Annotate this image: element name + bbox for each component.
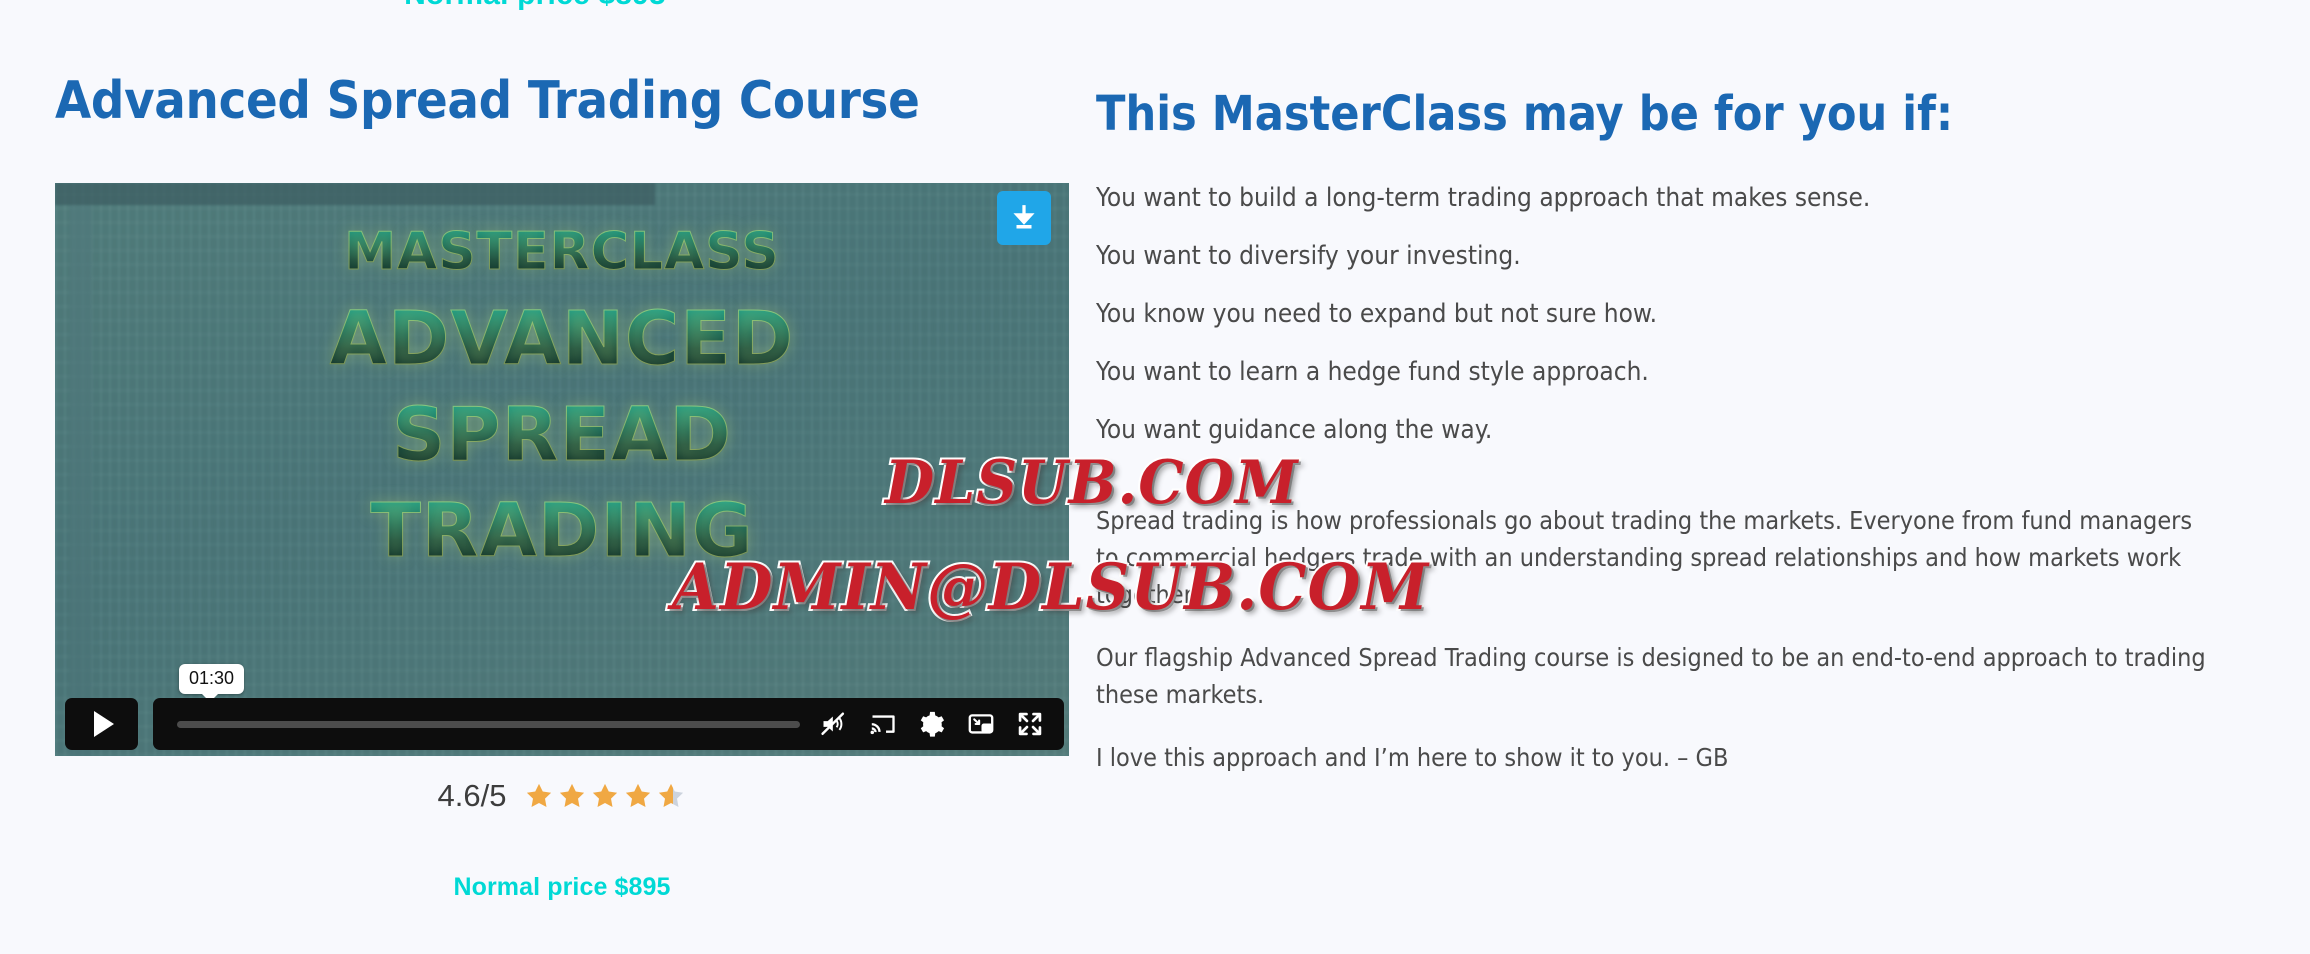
rating-value: 4.6/5	[438, 778, 507, 814]
bullet-item: You want guidance along the way.	[1096, 401, 2236, 459]
bullet-item: You want to learn a hedge fund style app…	[1096, 343, 2236, 401]
body-paragraph: I love this approach and I’m here to sho…	[1096, 739, 2211, 776]
body-paragraph: Our flagship Advanced Spread Trading cou…	[1096, 639, 2211, 713]
play-button[interactable]	[65, 698, 138, 750]
page-title: Advanced Spread Trading Course	[55, 72, 1069, 130]
play-icon	[94, 711, 114, 737]
video-control-bar	[153, 698, 1064, 750]
download-icon	[1009, 203, 1039, 233]
right-column: This MasterClass may be for you if: You …	[1096, 86, 2236, 776]
bullet-item: You want to diversify your investing.	[1096, 227, 2236, 285]
settings-gear-icon[interactable]	[918, 710, 946, 738]
video-player[interactable]: MASTERCLASS ADVANCED SPREAD TRADING 01:3…	[55, 183, 1069, 756]
bullet-item: You want to build a long-term trading ap…	[1096, 169, 2236, 227]
star-icon-full	[590, 781, 620, 811]
picture-in-picture-icon[interactable]	[967, 710, 995, 738]
mute-icon[interactable]	[820, 710, 848, 738]
star-icon-full	[557, 781, 587, 811]
star-icon-half	[656, 781, 686, 811]
star-icon-full	[623, 781, 653, 811]
cast-icon[interactable]	[869, 710, 897, 738]
star-rating	[524, 781, 686, 811]
section-heading: This MasterClass may be for you if:	[1096, 86, 2236, 142]
rating-row: 4.6/5	[55, 778, 1069, 814]
price-label: Normal price $895	[55, 873, 1069, 902]
star-icon-full	[524, 781, 554, 811]
clipped-price-text: Normal price $895	[0, 0, 1070, 12]
left-column: Advanced Spread Trading Course	[55, 72, 1069, 130]
progress-bar[interactable]	[177, 721, 800, 728]
bullet-item: You know you need to expand but not sure…	[1096, 285, 2236, 343]
body-paragraph: Spread trading is how professionals go a…	[1096, 502, 2211, 613]
page-root: Normal price $895 Advanced Spread Tradin…	[0, 0, 2310, 954]
download-button[interactable]	[997, 191, 1051, 245]
control-icon-group	[820, 710, 1064, 738]
time-tooltip: 01:30	[179, 664, 244, 694]
fullscreen-icon[interactable]	[1016, 710, 1044, 738]
